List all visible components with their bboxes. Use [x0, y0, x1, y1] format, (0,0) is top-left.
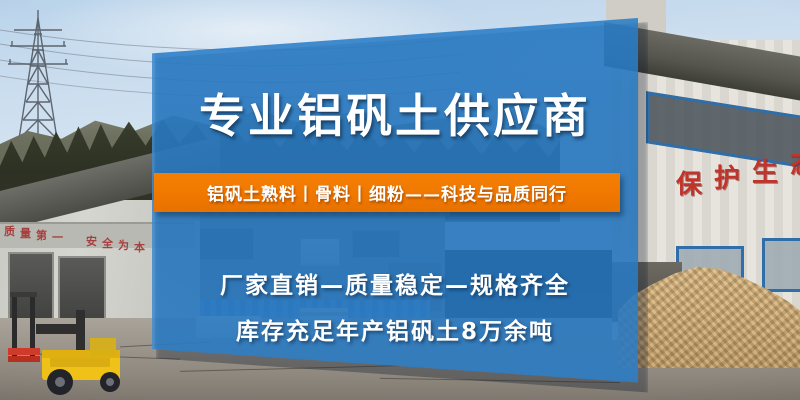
- left-sign-char: 为: [118, 240, 129, 251]
- left-sign-char: 本: [134, 242, 145, 253]
- left-sign-char: 量: [20, 228, 31, 239]
- left-sign-char: 安: [86, 236, 97, 247]
- left-sign-char: 全: [102, 238, 113, 249]
- right-sign-char: 保: [676, 172, 702, 198]
- banner-subline-2: 库存充足年产铝矾土8万余吨: [152, 312, 638, 346]
- promotional-banner: 质 量 第 一 安 全 为 本: [0, 0, 800, 400]
- left-sign-char: 一: [52, 232, 63, 243]
- right-sign-char: 护: [714, 166, 740, 192]
- right-window: [762, 238, 800, 292]
- left-sign-char: 质: [4, 226, 15, 237]
- right-sign-char: 生: [752, 160, 778, 186]
- orange-tagline-bar: 铝矾土熟料丨骨料丨细粉——科技与品质同行: [154, 173, 620, 212]
- left-sign-char: 第: [36, 230, 47, 241]
- right-sign-char: 态: [790, 152, 800, 178]
- banner-subline-1: 厂家直销—质量稳定—规格齐全: [152, 266, 638, 300]
- banner-content: 专业铝矾土供应商 铝矾土熟料丨骨料丨细粉——科技与品质同行 厂家直销—质量稳定—…: [152, 18, 638, 390]
- orange-tagline-text: 铝矾土熟料丨骨料丨细粉——科技与品质同行: [207, 180, 567, 205]
- banner-headline: 专业铝矾土供应商: [152, 80, 638, 146]
- yellow-forklift-icon: [6, 290, 136, 396]
